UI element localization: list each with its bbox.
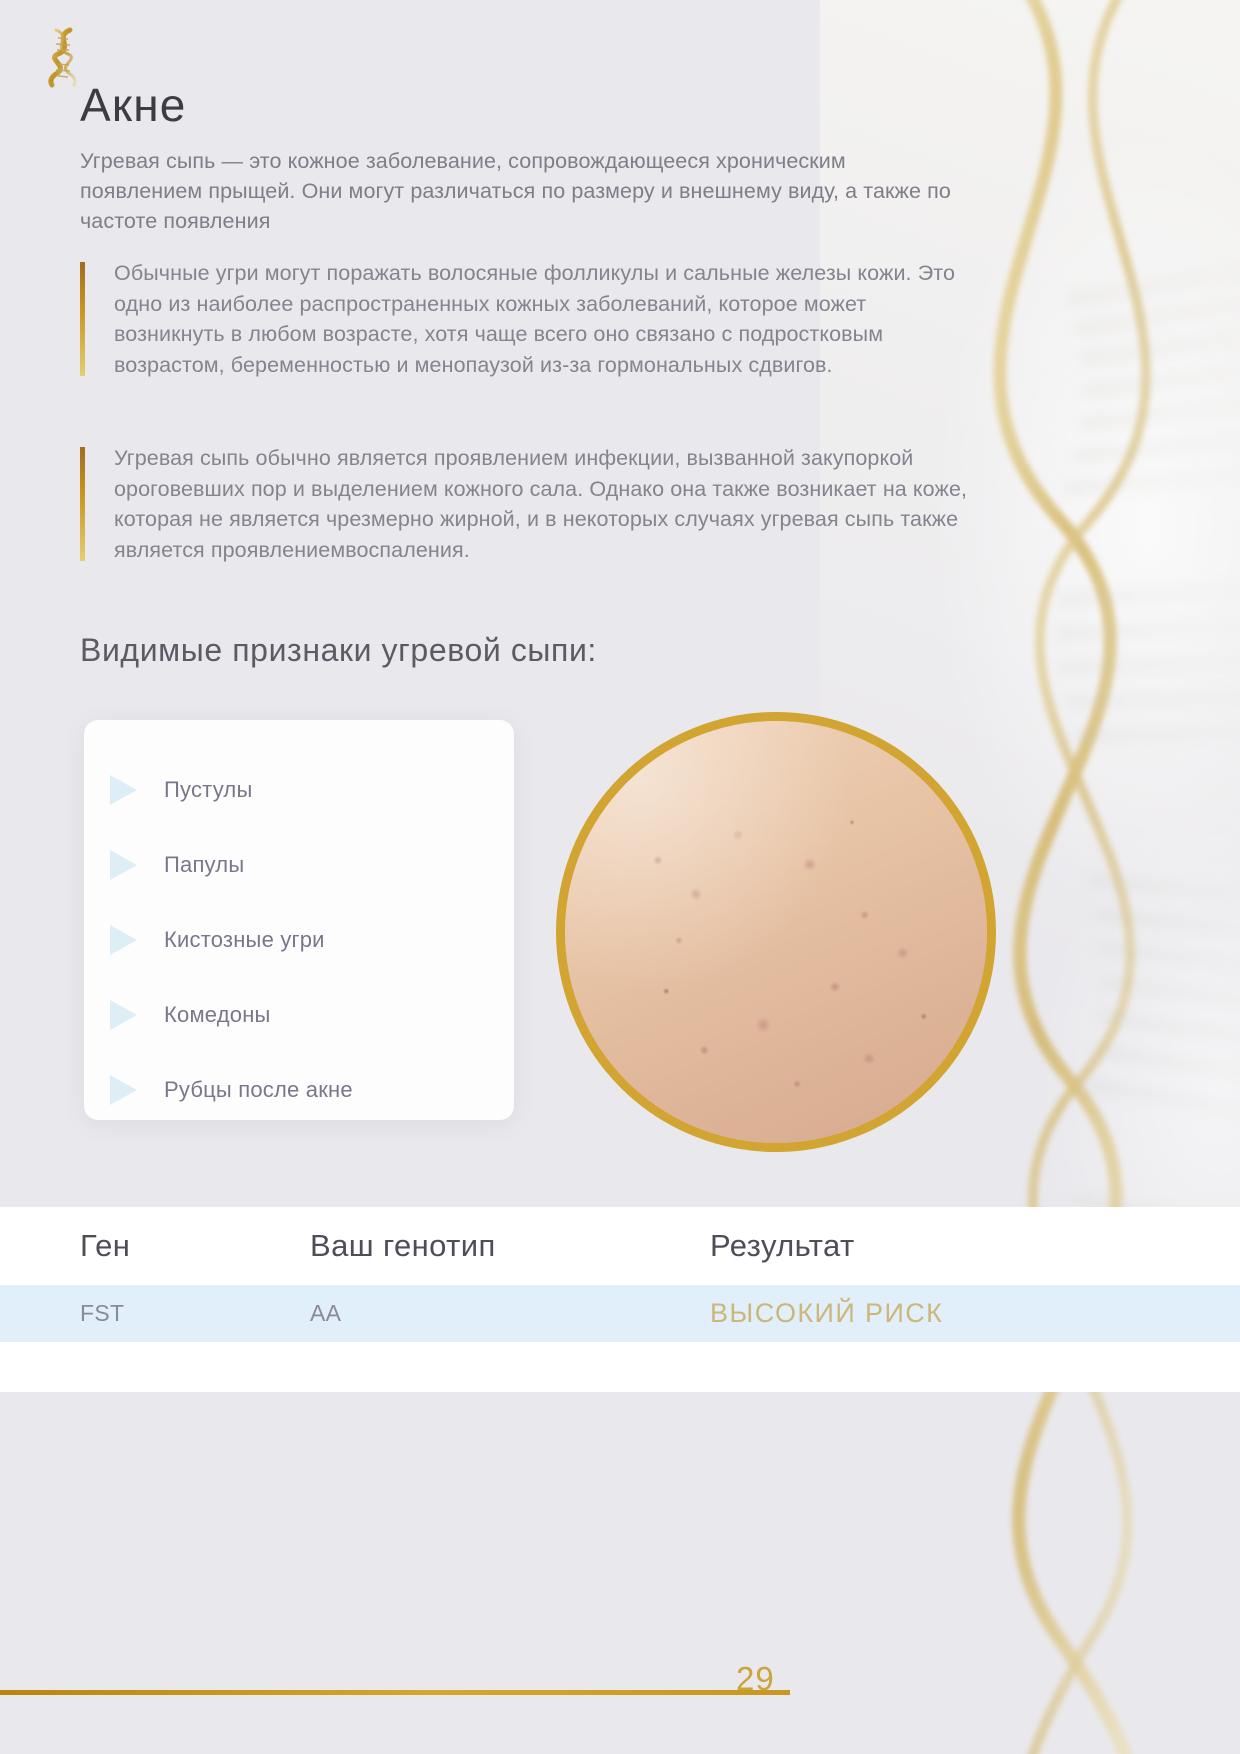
triangle-bullet-icon [110,850,137,880]
cell-genotype: AA [310,1300,710,1327]
symptoms-section-heading: Видимые признаки угревой сыпи: [80,632,597,669]
triangle-bullet-icon [110,775,137,805]
table-footer-band [0,1342,1240,1392]
info-callout-2-text: Угревая сыпь обычно является проявлением… [114,446,967,562]
column-header-genotype: Ваш генотип [310,1228,710,1264]
info-callout-2: Угревая сыпь обычно является проявлением… [80,443,970,565]
intro-paragraph: Угревая сыпь — это кожное заболевание, с… [80,146,960,236]
page-number: 29 [736,1660,775,1698]
page-title: Акне [80,78,187,132]
symptoms-list-card: Пустулы Папулы Кистозные угри Комедоны Р… [84,720,514,1120]
list-item-label: Папулы [164,852,244,878]
skin-closeup-photo [556,712,996,1152]
status-badge: ВЫСОКИЙ РИСК [710,1298,1240,1329]
column-header-gene: Ген [0,1228,310,1264]
list-item: Папулы [84,827,514,902]
list-item-label: Пустулы [164,777,252,803]
triangle-bullet-icon [110,1075,137,1105]
footer-divider [0,1690,790,1695]
cell-gene: FST [0,1300,310,1327]
list-item-label: Рубцы после акне [164,1077,353,1103]
info-callout-1-text: Обычные угри могут поражать волосяные фо… [114,261,955,377]
list-item-label: Комедоны [164,1002,271,1028]
list-item: Рубцы после акне [84,1052,514,1127]
triangle-bullet-icon [110,925,137,955]
table-row: FST AA ВЫСОКИЙ РИСК [0,1285,1240,1342]
document-page: Акне Угревая сыпь — это кожное заболеван… [0,0,1240,1754]
results-table: Ген Ваш генотип Результат FST AA ВЫСОКИЙ… [0,1207,1240,1392]
list-item: Комедоны [84,977,514,1052]
triangle-bullet-icon [110,1000,137,1030]
list-item-label: Кистозные угри [164,927,325,953]
list-item: Пустулы [84,752,514,827]
skin-texture [565,721,987,1143]
table-header-row: Ген Ваш генотип Результат [0,1207,1240,1285]
list-item: Кистозные угри [84,902,514,977]
info-callout-1: Обычные угри могут поражать волосяные фо… [80,258,970,380]
column-header-result: Результат [710,1228,1240,1264]
